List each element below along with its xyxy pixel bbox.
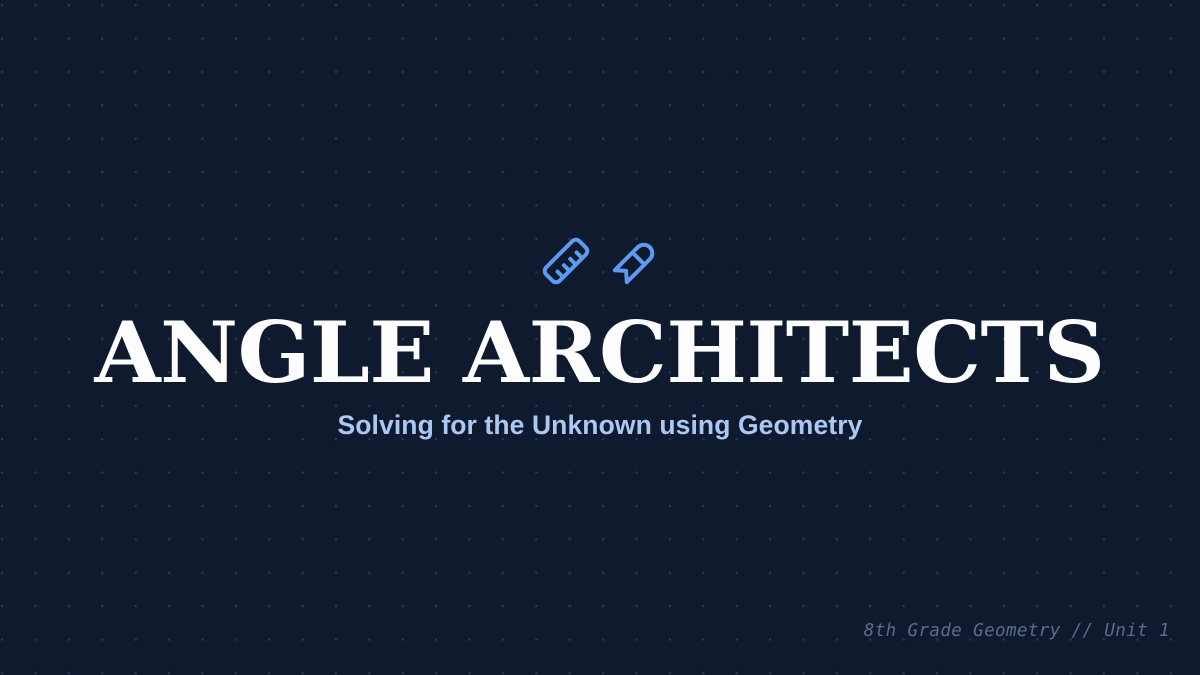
ruler-icon xyxy=(539,234,593,288)
footer-caption: 8th Grade Geometry // Unit 1 xyxy=(864,621,1170,641)
page-title: ANGLE ARCHITECTS xyxy=(95,312,1105,394)
title-slide: ANGLE ARCHITECTS Solving for the Unknown… xyxy=(0,0,1200,675)
icon-row xyxy=(539,232,661,290)
page-subtitle: Solving for the Unknown using Geometry xyxy=(337,410,862,441)
pencil-icon xyxy=(611,234,661,288)
